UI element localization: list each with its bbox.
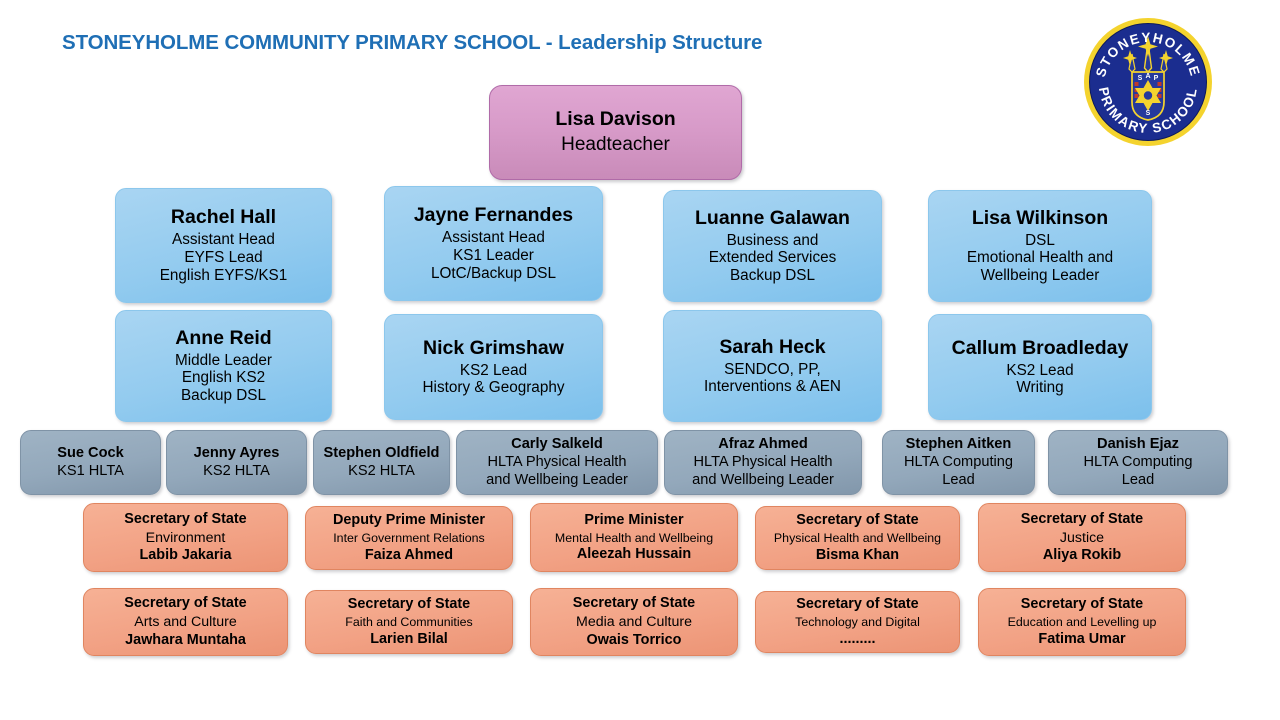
cabinet-person-name: ......... [840, 631, 876, 648]
org-node-hlta-5[interactable]: Afraz Ahmed HLTA Physical Health and Wel… [664, 430, 862, 495]
org-node-headteacher[interactable]: Lisa Davison Headteacher [489, 85, 742, 180]
cabinet-title: Secretary of State [124, 595, 246, 612]
cabinet-department: Physical Health and Wellbeing [774, 531, 941, 546]
leader-role-line: English EYFS/KS1 [160, 267, 288, 285]
cabinet-person-name: Owais Torrico [587, 632, 682, 649]
org-node-cabinet-7[interactable]: Secretary of State Faith and Communities… [305, 590, 513, 654]
cabinet-person-name: Labib Jakaria [140, 547, 232, 564]
leader-role-line: DSL [1025, 232, 1055, 250]
hlta-role-line: and Wellbeing Leader [486, 472, 628, 489]
cabinet-title: Secretary of State [124, 511, 246, 528]
hlta-name: Danish Ejaz [1097, 436, 1179, 453]
leader-role-line: Backup DSL [181, 387, 266, 405]
cabinet-person-name: Fatima Umar [1038, 631, 1125, 648]
org-node-hlta-3[interactable]: Stephen Oldfield KS2 HLTA [313, 430, 450, 495]
headteacher-name: Lisa Davison [555, 108, 675, 131]
org-node-hlta-2[interactable]: Jenny Ayres KS2 HLTA [166, 430, 307, 495]
leader-name: Anne Reid [175, 327, 271, 350]
crest-letter-p: P [1154, 75, 1159, 82]
leader-role-line: Assistant Head [172, 231, 275, 249]
leader-role-line: LOtC/Backup DSL [431, 265, 556, 283]
leader-name: Rachel Hall [171, 206, 276, 229]
org-node-leader-7[interactable]: Sarah Heck SENDCO, PP, Interventions & A… [663, 310, 882, 422]
cabinet-department: Environment [146, 530, 226, 547]
hlta-role-line: and Wellbeing Leader [692, 472, 834, 489]
hlta-role-line: HLTA Computing [1084, 454, 1193, 471]
org-node-leader-1[interactable]: Rachel Hall Assistant Head EYFS Lead Eng… [115, 188, 332, 303]
cabinet-department: Education and Levelling up [1008, 615, 1157, 630]
hlta-role-line: Lead [1122, 472, 1154, 489]
org-node-leader-2[interactable]: Jayne Fernandes Assistant Head KS1 Leade… [384, 186, 603, 301]
org-node-cabinet-3[interactable]: Prime Minister Mental Health and Wellbei… [530, 503, 738, 572]
cabinet-department: Media and Culture [576, 614, 692, 631]
leader-name: Nick Grimshaw [423, 337, 564, 360]
hlta-name: Jenny Ayres [194, 445, 280, 462]
cabinet-person-name: Aliya Rokib [1043, 547, 1121, 564]
page-title: STONEYHOLME COMMUNITY PRIMARY SCHOOL - L… [62, 31, 762, 55]
org-node-leader-5[interactable]: Anne Reid Middle Leader English KS2 Back… [115, 310, 332, 422]
leader-role-line: Interventions & AEN [704, 378, 841, 396]
cabinet-person-name: Larien Bilal [370, 631, 448, 648]
hlta-role-line: HLTA Physical Health [488, 454, 627, 471]
cabinet-department: Justice [1060, 530, 1104, 547]
hlta-role-line: KS2 HLTA [348, 463, 415, 480]
org-node-hlta-4[interactable]: Carly Salkeld HLTA Physical Health and W… [456, 430, 658, 495]
leader-role-line: Middle Leader [175, 352, 272, 370]
cabinet-person-name: Aleezah Hussain [577, 546, 691, 563]
leader-role-line: KS2 Lead [460, 362, 527, 380]
cabinet-department: Arts and Culture [134, 614, 237, 631]
leader-role-line: Wellbeing Leader [981, 267, 1100, 285]
leader-role-line: Backup DSL [730, 267, 815, 285]
org-node-cabinet-4[interactable]: Secretary of State Physical Health and W… [755, 506, 960, 570]
cabinet-department: Faith and Communities [345, 615, 472, 630]
leader-role-line: Writing [1016, 379, 1063, 397]
cabinet-title: Secretary of State [1021, 596, 1143, 613]
org-node-leader-4[interactable]: Lisa Wilkinson DSL Emotional Health and … [928, 190, 1152, 302]
cabinet-person-name: Bisma Khan [816, 547, 899, 564]
org-node-cabinet-6[interactable]: Secretary of State Arts and Culture Jawh… [83, 588, 288, 656]
page-title-main: STONEYHOLME COMMUNITY PRIMARY SCHOOL [62, 31, 540, 54]
org-node-cabinet-8[interactable]: Secretary of State Media and Culture Owa… [530, 588, 738, 656]
cabinet-department: Technology and Digital [795, 615, 920, 630]
cabinet-person-name: Jawhara Muntaha [125, 632, 246, 649]
hlta-role-line: HLTA Physical Health [694, 454, 833, 471]
leader-name: Jayne Fernandes [414, 204, 573, 227]
org-node-cabinet-10[interactable]: Secretary of State Education and Levelli… [978, 588, 1186, 656]
crest-letter-s: S [1138, 75, 1143, 82]
hlta-name: Sue Cock [57, 445, 124, 462]
leader-name: Sarah Heck [719, 336, 825, 359]
org-node-hlta-7[interactable]: Danish Ejaz HLTA Computing Lead [1048, 430, 1228, 495]
org-node-leader-6[interactable]: Nick Grimshaw KS2 Lead History & Geograp… [384, 314, 603, 420]
leader-name: Lisa Wilkinson [972, 207, 1108, 230]
cabinet-title: Secretary of State [796, 512, 918, 529]
cabinet-title: Deputy Prime Minister [333, 512, 485, 529]
leader-role-line: History & Geography [423, 379, 565, 397]
leader-role-line: KS1 Leader [453, 247, 534, 265]
cabinet-department: Inter Government Relations [333, 531, 485, 546]
headteacher-role: Headteacher [561, 134, 670, 156]
leader-role-line: Business and [727, 232, 819, 250]
leader-name: Callum Broadleday [952, 337, 1129, 360]
leader-role-line: KS2 Lead [1006, 362, 1073, 380]
cabinet-title: Secretary of State [573, 595, 695, 612]
hlta-name: Stephen Aitken [906, 436, 1012, 453]
cabinet-title: Secretary of State [348, 596, 470, 613]
hlta-role-line: Lead [942, 472, 974, 489]
hlta-name: Carly Salkeld [511, 436, 603, 453]
cabinet-title: Prime Minister [584, 512, 683, 529]
leader-role-line: Assistant Head [442, 229, 545, 247]
org-node-leader-3[interactable]: Luanne Galawan Business and Extended Ser… [663, 190, 882, 302]
org-node-hlta-1[interactable]: Sue Cock KS1 HLTA [20, 430, 161, 495]
leader-role-line: English KS2 [182, 369, 265, 387]
cabinet-title: Secretary of State [796, 596, 918, 613]
cabinet-department: Mental Health and Wellbeing [555, 531, 713, 546]
org-node-cabinet-2[interactable]: Deputy Prime Minister Inter Government R… [305, 506, 513, 570]
crest-letter-a: A [1145, 73, 1150, 80]
leader-role-line: SENDCO, PP, [724, 361, 821, 379]
cabinet-title: Secretary of State [1021, 511, 1143, 528]
leader-role-line: EYFS Lead [184, 249, 262, 267]
org-node-hlta-6[interactable]: Stephen Aitken HLTA Computing Lead [882, 430, 1035, 495]
hlta-name: Stephen Oldfield [324, 445, 440, 462]
hlta-role-line: KS1 HLTA [57, 463, 124, 480]
org-node-cabinet-1[interactable]: Secretary of State Environment Labib Jak… [83, 503, 288, 572]
hlta-role-line: KS2 HLTA [203, 463, 270, 480]
leader-role-line: Emotional Health and [967, 249, 1113, 267]
hlta-name: Afraz Ahmed [718, 436, 807, 453]
hlta-role-line: HLTA Computing [904, 454, 1013, 471]
page-title-sub: - Leadership Structure [540, 31, 762, 54]
org-node-cabinet-9[interactable]: Secretary of State Technology and Digita… [755, 591, 960, 653]
org-node-leader-8[interactable]: Callum Broadleday KS2 Lead Writing [928, 314, 1152, 420]
leader-role-line: Extended Services [709, 249, 837, 267]
school-crest-logo: S A P S STONEYHOLME PRIMARY SCHOOL [1082, 16, 1214, 148]
org-node-cabinet-5[interactable]: Secretary of State Justice Aliya Rokib [978, 503, 1186, 572]
crest-letter-s2: S [1146, 110, 1151, 117]
cabinet-person-name: Faiza Ahmed [365, 547, 453, 564]
leader-name: Luanne Galawan [695, 207, 850, 230]
